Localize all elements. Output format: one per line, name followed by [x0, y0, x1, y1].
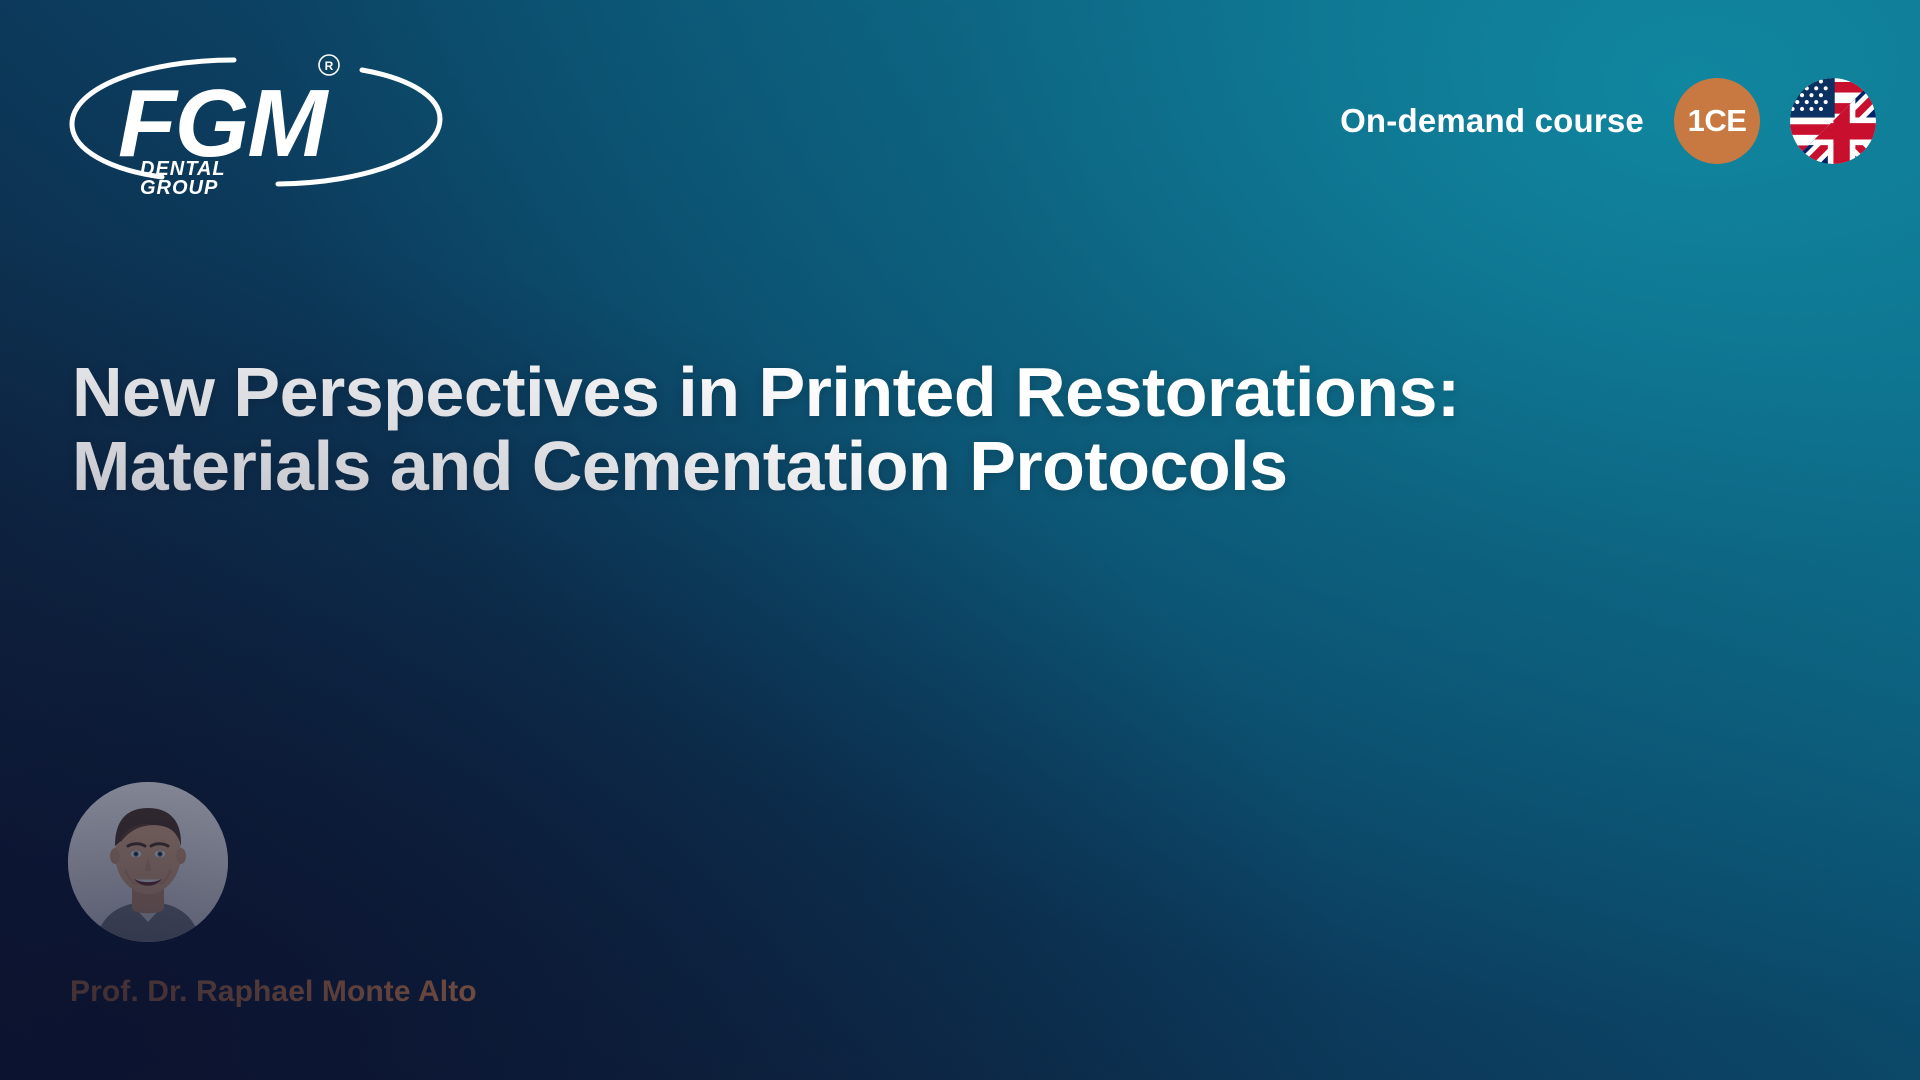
slide-title-line-2: Materials and Cementation Protocols	[72, 429, 1772, 503]
presenter-avatar	[68, 782, 228, 942]
course-type-label: On-demand course	[1340, 102, 1644, 140]
slide-title-line-1: New Perspectives in Printed Restorations…	[72, 355, 1772, 429]
svg-text:R: R	[325, 59, 334, 73]
registered-trademark-icon: R	[319, 55, 339, 75]
slide-title: New Perspectives in Printed Restorations…	[72, 355, 1772, 503]
header-meta: On-demand course 1CE	[1340, 78, 1876, 164]
us-uk-flag-icon	[1790, 78, 1876, 164]
presenter-name: Prof. Dr. Raphael Monte Alto	[70, 975, 477, 1009]
ce-credit-badge: 1CE	[1674, 78, 1760, 164]
svg-text:GROUP: GROUP	[140, 177, 218, 199]
course-title-slide: FGM DENTAL GROUP R On-demand course 1CE	[0, 0, 1920, 1080]
fgm-logo: FGM DENTAL GROUP R	[56, 42, 456, 200]
